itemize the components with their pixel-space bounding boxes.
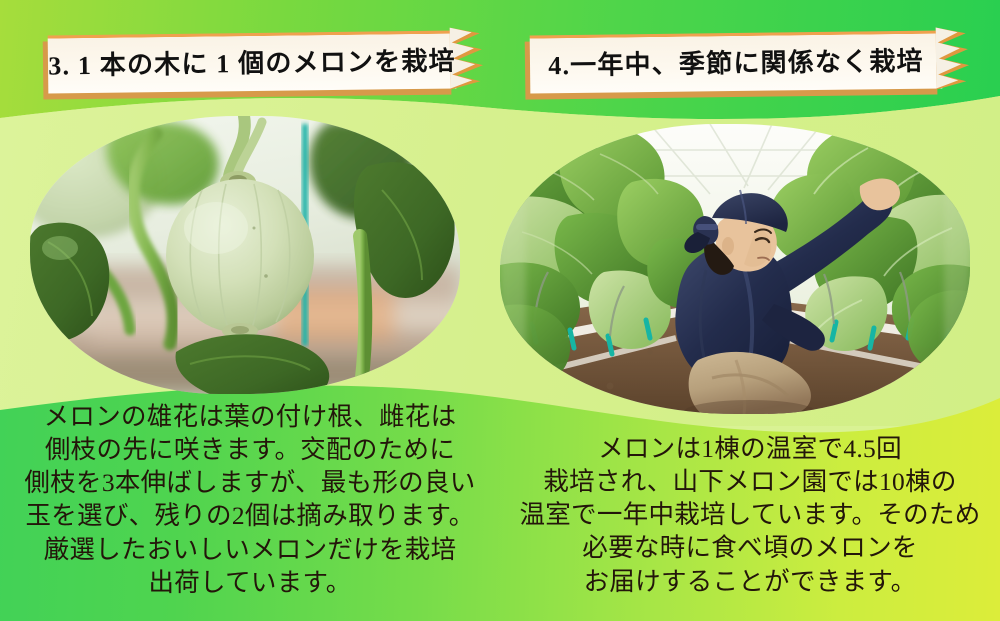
caption-line: メロンの雄花は葉の付け根、雌花は (0, 400, 500, 433)
caption-line: 玉を選び、残りの2個は摘み取ります。 (0, 499, 500, 532)
caption-line: 側枝を3本伸ばしますが、最も形の良い (0, 466, 500, 499)
caption-line: 出荷しています。 (0, 566, 500, 599)
caption-line: 厳選したおいしいメロンだけを栽培 (0, 533, 500, 566)
farmer-in-greenhouse-photo (500, 124, 970, 414)
caption-line: 栽培され、山下メロン園では10棟の (500, 465, 1000, 498)
caption-panel-4: メロンは1棟の温室で4.5回 栽培され、山下メロン園では10棟の 温室で一年中栽… (500, 432, 1000, 598)
caption-line: 必要な時に食べ頃のメロンを (500, 531, 1000, 564)
heading-banner-label-panel-4: 4.一年中、季節に関係なく栽培 (530, 30, 943, 93)
heading-banner-panel-3: 3. 1 本の木に 1 個のメロンを栽培 (48, 31, 457, 94)
caption-line: 側枝の先に咲きます。交配のために (0, 433, 500, 466)
melon-on-vine-photo (30, 116, 460, 394)
caption-line: メロンは1棟の温室で4.5回 (500, 432, 1000, 465)
caption-line: 温室で一年中栽培しています。そのため (500, 498, 1000, 531)
caption-line: お届けすることができます。 (500, 565, 1000, 598)
heading-banner-panel-4: 4.一年中、季節に関係なく栽培 (530, 30, 943, 93)
heading-banner-label-panel-3: 3. 1 本の木に 1 個のメロンを栽培 (48, 31, 457, 94)
melon-farm-infographic: 3. 1 本の木に 1 個のメロンを栽培 4.一年中、季節に関係なく栽培 (0, 0, 1000, 621)
caption-panel-3: メロンの雄花は葉の付け根、雌花は 側枝の先に咲きます。交配のために 側枝を3本伸… (0, 400, 500, 599)
